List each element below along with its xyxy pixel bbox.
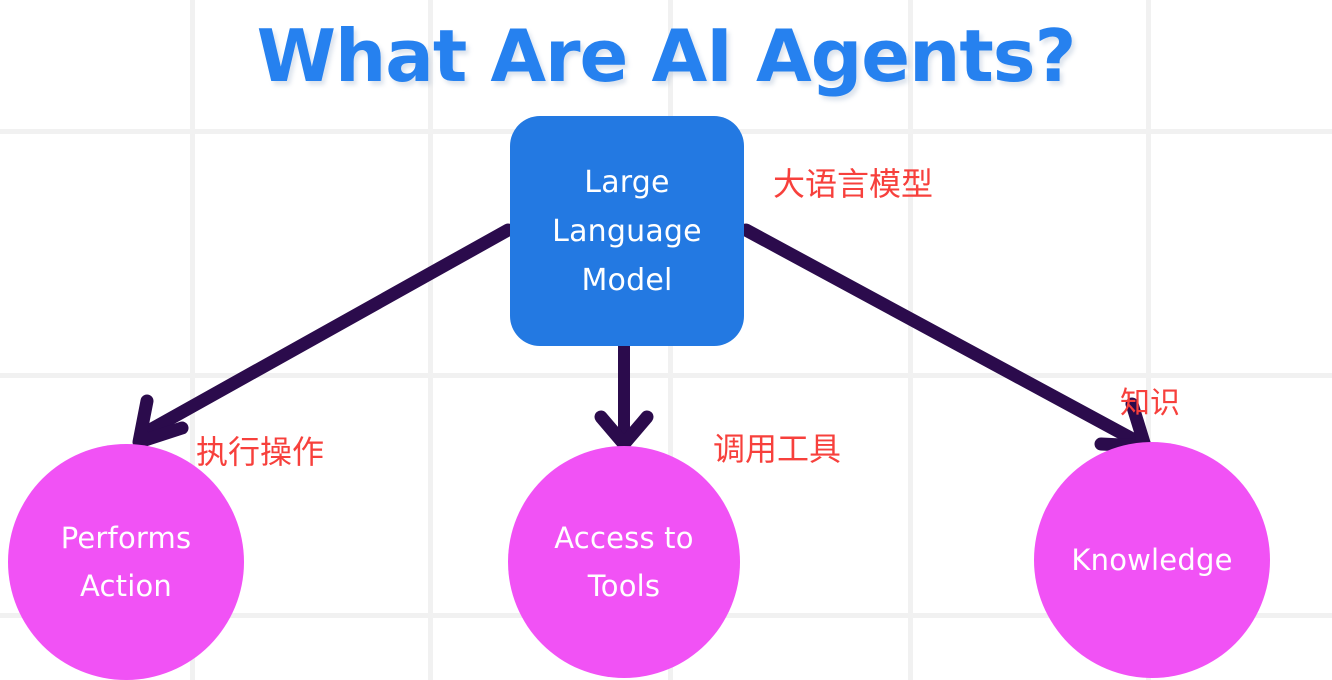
node-access-to-tools[interactable]: Access to Tools <box>508 446 740 678</box>
gridline-vertical <box>428 0 433 680</box>
node-large-language-model[interactable]: Large Language Model <box>510 116 744 346</box>
node-label-large-language-model: Large Language Model <box>552 158 702 305</box>
annotation-access-to-tools: 调用工具 <box>713 424 841 470</box>
node-label-access-to-tools: Access to Tools <box>554 514 693 610</box>
page-title: What Are AI Agents? <box>0 14 1332 98</box>
node-performs-action[interactable]: Performs Action <box>8 444 244 680</box>
annotation-large-language-model: 大语言模型 <box>773 159 933 205</box>
annotation-performs-action: 执行操作 <box>196 427 324 473</box>
gridline-vertical <box>908 0 913 680</box>
node-label-knowledge: Knowledge <box>1071 536 1232 584</box>
annotation-knowledge: 知识 <box>1120 378 1180 422</box>
diagram-canvas: What Are AI Agents? Large Language Model… <box>0 0 1332 680</box>
node-label-performs-action: Performs Action <box>61 514 192 610</box>
node-knowledge[interactable]: Knowledge <box>1034 442 1270 678</box>
